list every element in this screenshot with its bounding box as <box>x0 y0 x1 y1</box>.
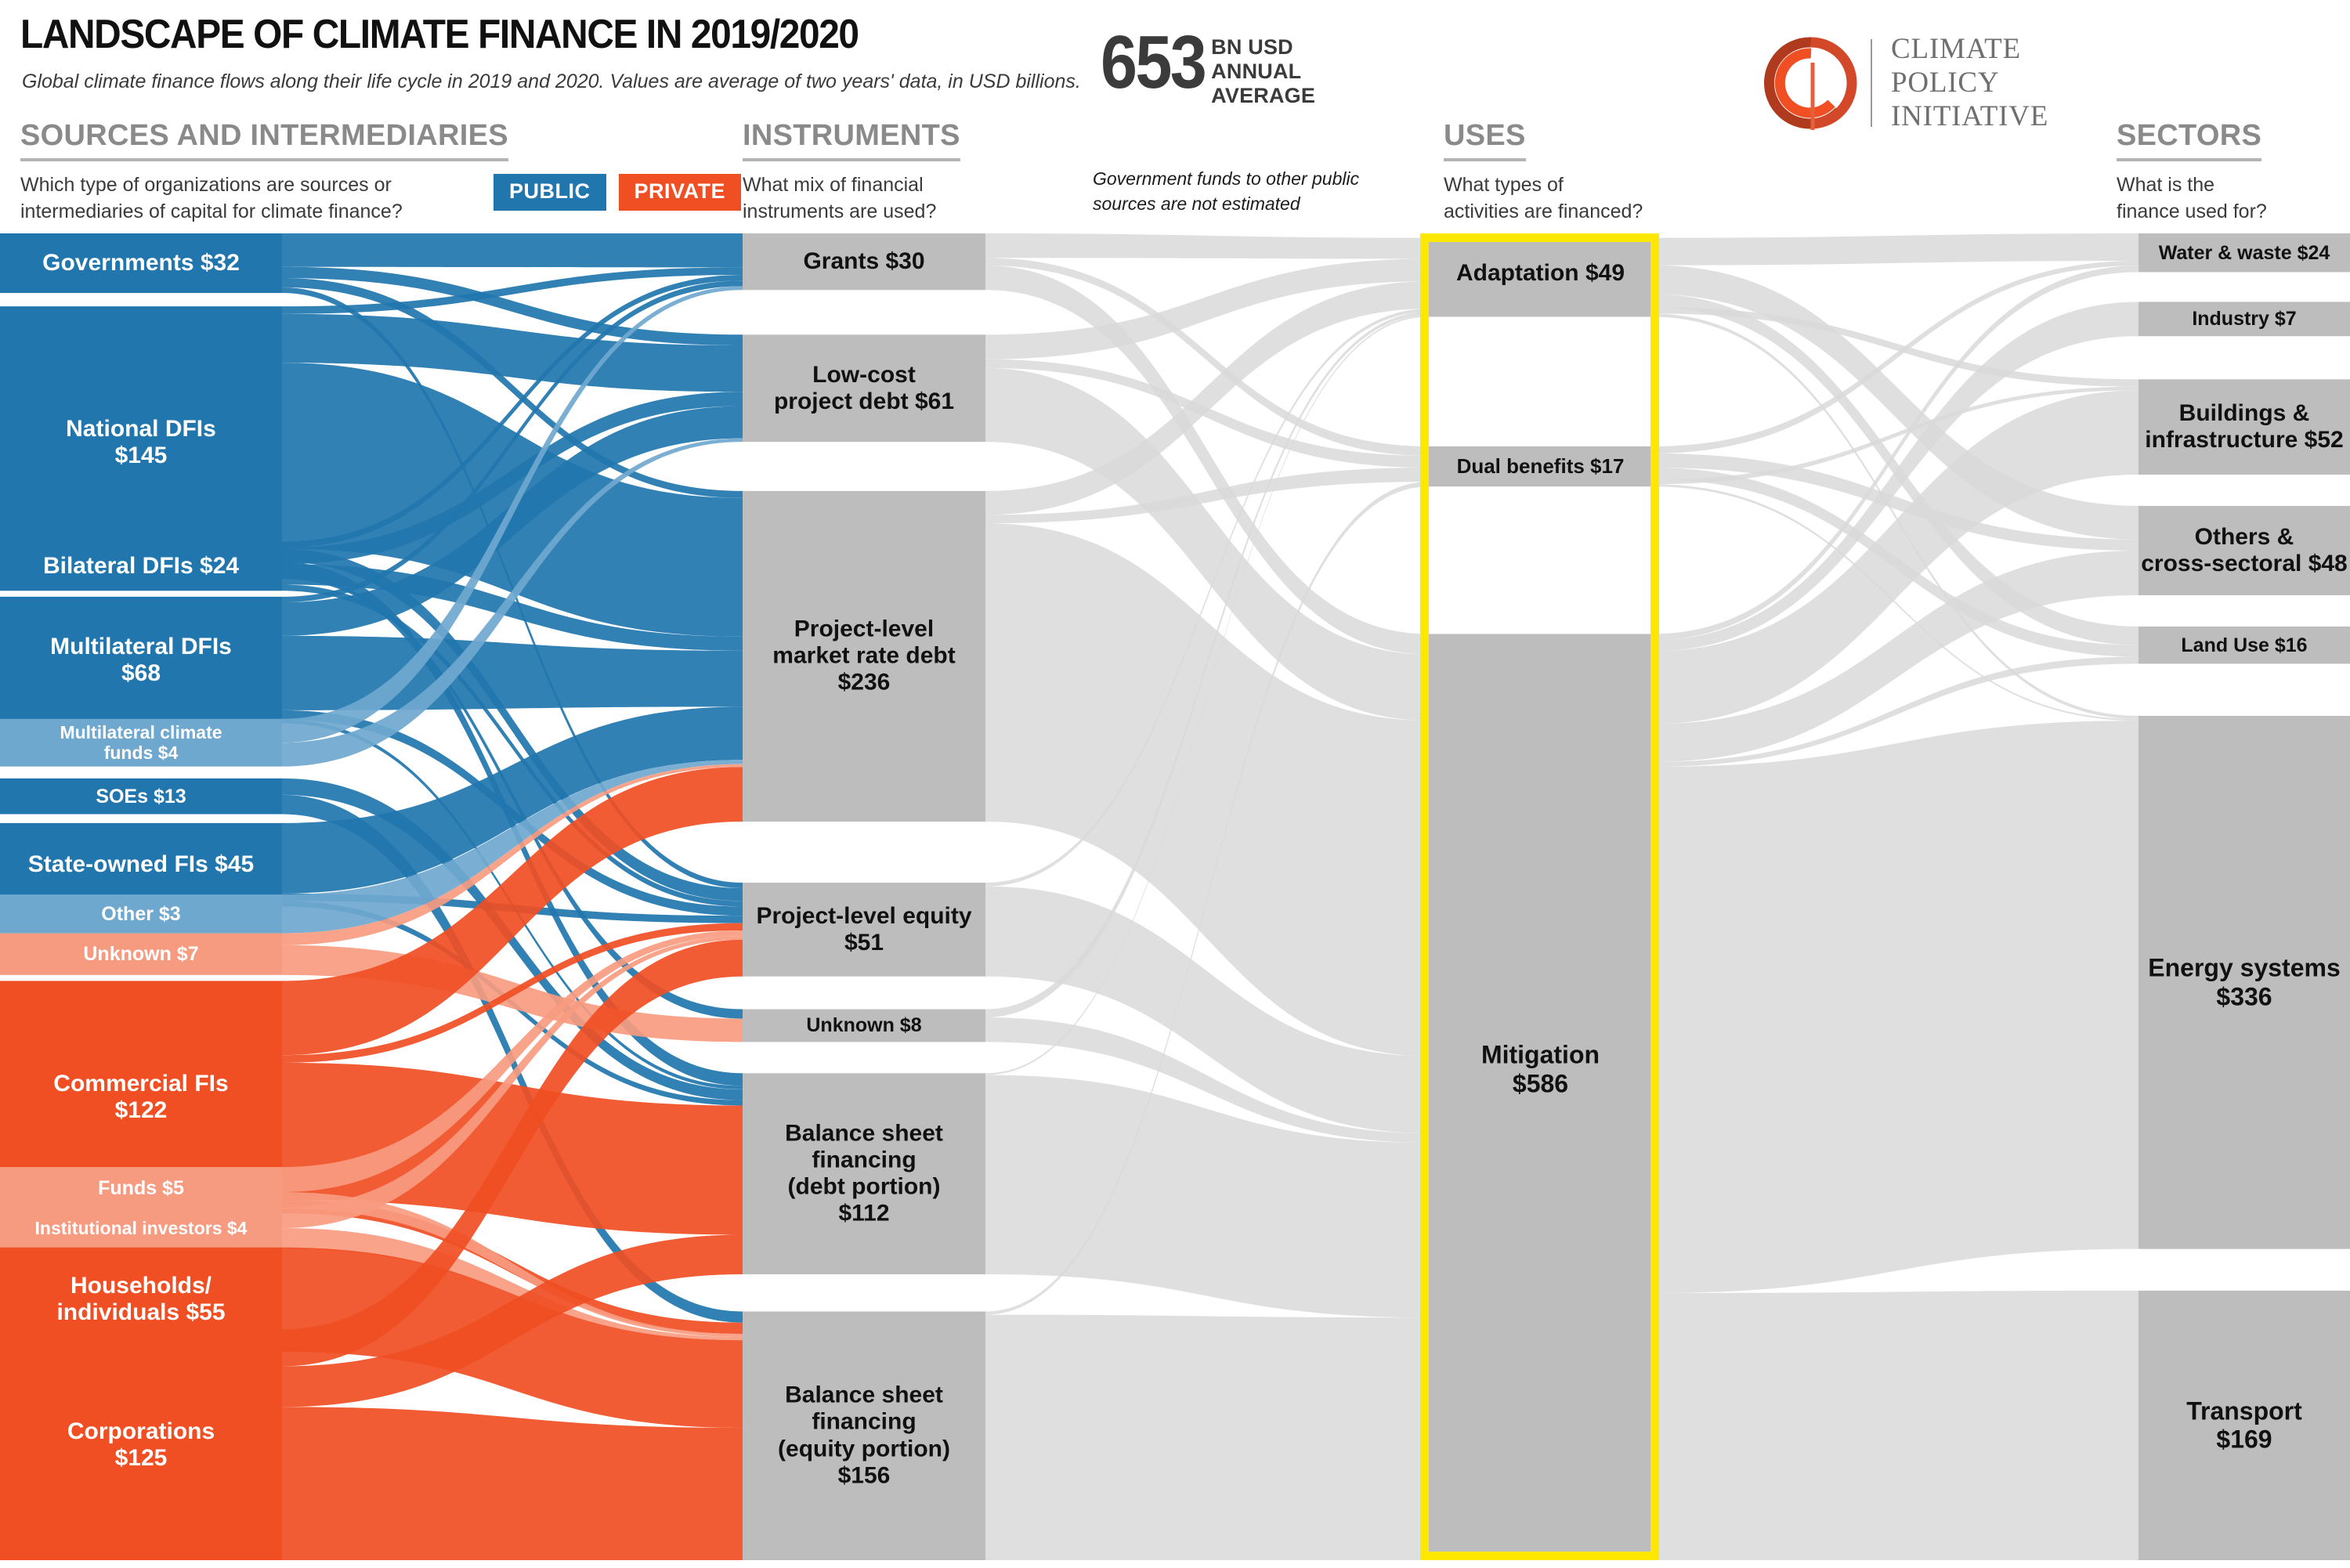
sankey-node-grants[interactable] <box>743 233 985 290</box>
sankey-link <box>1652 721 2138 1293</box>
sankey-node-dual_benefits[interactable] <box>1429 446 1652 486</box>
sankey-node-low_cost_debt[interactable] <box>743 334 985 442</box>
sankey-node-market_rate_debt[interactable] <box>743 491 985 822</box>
sankey-node-industry[interactable] <box>2138 302 2350 336</box>
sankey-node-soes[interactable] <box>0 779 282 815</box>
sankey-node-adaptation[interactable] <box>1429 238 1652 317</box>
sankey-link <box>1652 1291 2138 1560</box>
sankey-node-other_public[interactable] <box>0 894 282 933</box>
sankey-link <box>282 233 743 267</box>
sankey-node-energy_systems[interactable] <box>2138 716 2350 1249</box>
sankey-link <box>985 233 1429 258</box>
sankey-links <box>282 233 2138 1560</box>
sankey-node-funds[interactable] <box>0 1167 282 1209</box>
sankey-node-institutional[interactable] <box>0 1207 282 1248</box>
sankey-node-project_equity[interactable] <box>743 883 985 977</box>
sankey-node-corporations[interactable] <box>0 1329 282 1560</box>
sankey-link <box>282 1407 743 1560</box>
sankey-link <box>985 1315 1429 1560</box>
sankey-link <box>1652 233 2138 266</box>
sankey-node-multilateral_funds[interactable] <box>0 719 282 767</box>
sankey-node-bs_debt[interactable] <box>743 1073 985 1274</box>
sankey-node-transport[interactable] <box>2138 1291 2350 1560</box>
sankey-node-buildings[interactable] <box>2138 379 2350 475</box>
sankey-node-governments[interactable] <box>0 233 282 293</box>
sankey-node-mitigation[interactable] <box>1429 634 1652 1560</box>
sankey-node-unknown_source[interactable] <box>0 934 282 975</box>
sankey-node-state_owned_fis[interactable] <box>0 823 282 906</box>
sankey-node-bilateral_dfis[interactable] <box>0 542 282 591</box>
sankey-diagram <box>0 0 2350 1568</box>
sankey-node-multilateral_dfis[interactable] <box>0 597 282 724</box>
sankey-node-land_use[interactable] <box>2138 627 2350 664</box>
sankey-node-unknown_instrument[interactable] <box>743 1010 985 1042</box>
sankey-node-water_waste[interactable] <box>2138 233 2350 272</box>
sankey-node-national_dfis[interactable] <box>0 306 282 579</box>
sankey-node-bs_equity[interactable] <box>743 1311 985 1560</box>
sankey-node-others_cross[interactable] <box>2138 506 2350 595</box>
